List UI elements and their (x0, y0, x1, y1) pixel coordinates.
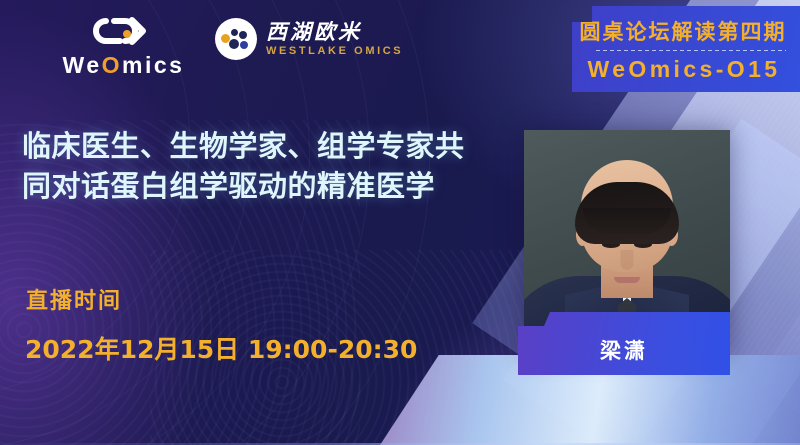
series-badge-cn: 圆桌论坛解读第四期 (572, 22, 794, 43)
westlake-circle-icon (215, 18, 257, 60)
weomics-logo: WeOmics (56, 16, 191, 77)
live-time-value: 2022年12月15日 19:00-20:30 (25, 337, 417, 362)
series-badge: 圆桌论坛解读第四期 WeOmics-O15 (572, 6, 800, 92)
series-badge-divider (596, 50, 786, 51)
speaker-name: 梁潇 (600, 323, 648, 365)
infinity-mark-icon (80, 16, 168, 46)
live-time-label: 直播时间 (26, 291, 122, 313)
weomics-wordmark: WeOmics (56, 54, 191, 77)
speaker-nose (621, 250, 634, 270)
logo-bar: WeOmics 西湖欧米 WESTLAKE OMICS (0, 14, 470, 80)
speaker-face (581, 160, 673, 272)
page-title: 临床医生、生物学家、组学专家共同对话蛋白组学驱动的精准医学 (22, 126, 492, 206)
westlake-en-name: WESTLAKE OMICS (266, 46, 403, 57)
speaker-mouth (614, 277, 640, 283)
series-badge-en: WeOmics-O15 (572, 58, 796, 81)
westlake-omics-logo: 西湖欧米 WESTLAKE OMICS (215, 18, 403, 60)
speaker-hair (575, 182, 679, 244)
westlake-cn-name: 西湖欧米 (266, 21, 403, 43)
webinar-poster: WeOmics 西湖欧米 WESTLAKE OMICS 圆桌论坛解读第四期 We… (0, 0, 800, 445)
speaker-nameplate: 梁潇 (518, 312, 730, 375)
